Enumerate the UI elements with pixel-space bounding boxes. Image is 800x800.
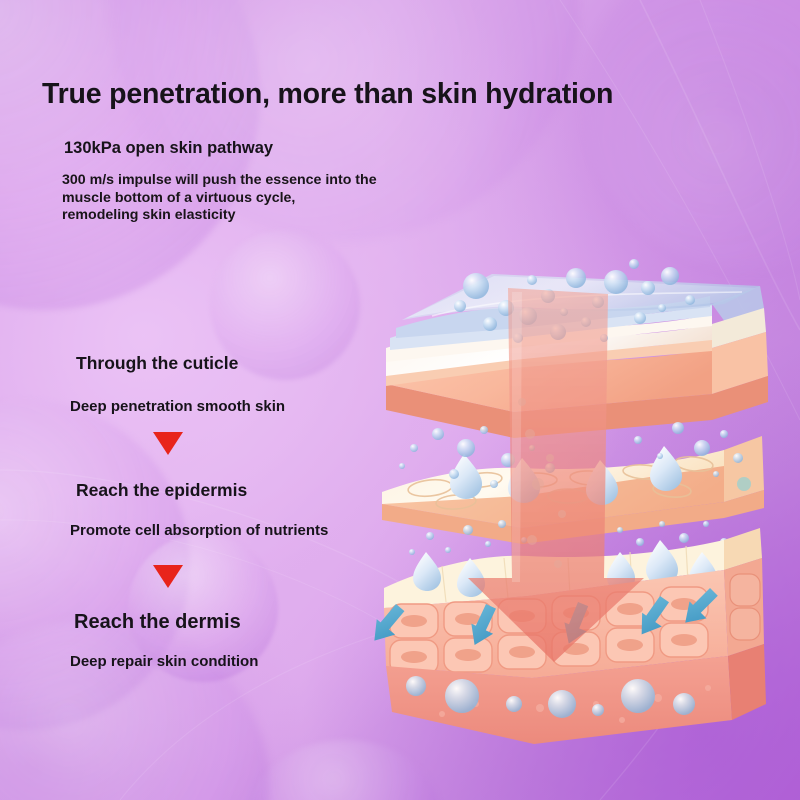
step-detail-dermis: Deep repair skin condition <box>70 653 258 670</box>
subtitle-description-line-1: 300 m/s impulse will push the essence in… <box>62 172 377 190</box>
step-heading-epidermis: Reach the epidermis <box>76 480 247 501</box>
step-heading-dermis: Reach the dermis <box>74 611 241 634</box>
subtitle-description: 300 m/s impulse will push the essence in… <box>62 172 377 225</box>
step-detail-cuticle: Deep penetration smooth skin <box>70 398 285 415</box>
skin-cross-section-illustration <box>372 252 772 762</box>
background-bubble-blob <box>585 0 800 270</box>
subtitle-description-line-3: remodeling skin elasticity <box>62 207 377 225</box>
subtitle-description-line-2: muscle bottom of a virtuous cycle, <box>62 190 377 208</box>
step-divider-arrow-2 <box>153 565 183 588</box>
page-title: True penetration, more than skin hydrati… <box>42 78 613 111</box>
step-divider-arrow-1 <box>153 432 183 455</box>
poster-canvas: True penetration, more than skin hydrati… <box>0 0 800 800</box>
subtitle-pressure: 130kPa open skin pathway <box>64 139 273 158</box>
step-detail-epidermis: Promote cell absorption of nutrients <box>70 522 328 539</box>
background-bubble-blob <box>0 620 270 800</box>
step-heading-cuticle: Through the cuticle <box>76 353 238 374</box>
